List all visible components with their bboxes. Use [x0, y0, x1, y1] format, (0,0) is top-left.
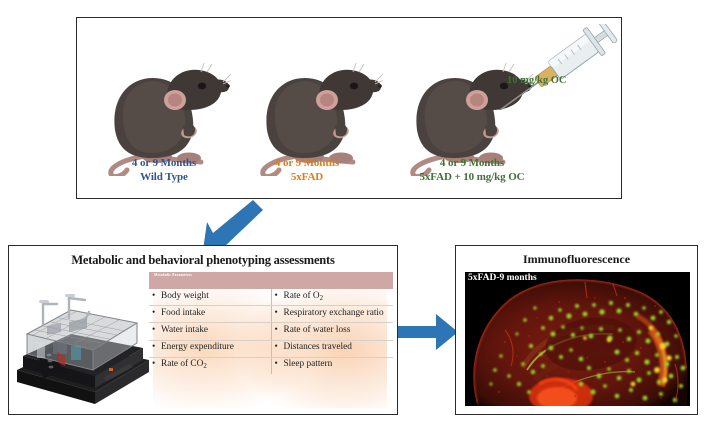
table-cell: •Water intake [149, 323, 271, 340]
brain-section-immunofluorescence-image: 5xFAD-9 months [465, 272, 690, 406]
group-label-5xfad-oc: 4 or 9 Months 5xFAD + 10 mg/kg OC [367, 157, 577, 184]
image-caption: 5xFAD-9 months [468, 273, 537, 283]
table-cell: •Rate of CO2 [149, 357, 271, 374]
group-label-line1: 4 or 9 Months [367, 157, 577, 171]
table-cell: •Distances traveled [271, 340, 393, 357]
table-row: •Food intake •Respiratory exchange ratio [149, 306, 393, 323]
table-cell: •Rate of O2 [271, 289, 393, 306]
table-row: •Rate of CO2 •Sleep pattern [149, 357, 393, 374]
panel-title: Metabolic and behavioral phenotyping ass… [9, 253, 397, 268]
immunofluorescence-panel: Immunofluorescence 5xFAD-9 months [455, 245, 698, 415]
group-label-5xfad: 4 or 9 Months 5xFAD [237, 157, 377, 184]
table-cell: •Respiratory exchange ratio [271, 306, 393, 323]
metabolic-parameters-table: Metabolic Parameters •Body weight •Rate … [149, 272, 393, 412]
table-row: •Energy expenditure •Distances traveled [149, 340, 393, 357]
group-label-line1: 4 or 9 Months [237, 157, 377, 171]
metabolic-cage-icon [13, 282, 153, 407]
syringe-icon [475, 24, 623, 110]
table-header: Metabolic Parameters [149, 272, 393, 289]
table-row: •Water intake •Rate of water loss [149, 323, 393, 340]
table-row: •Body weight •Rate of O2 [149, 289, 393, 306]
group-label-wild-type: 4 or 9 Months Wild Type [89, 157, 239, 184]
panel-title: Immunofluorescence [456, 252, 697, 267]
table-cell: •Body weight [149, 289, 271, 306]
arrow-down-left-icon [193, 198, 265, 252]
arrow-right-icon [398, 312, 460, 352]
table-cell: •Energy expenditure [149, 340, 271, 357]
dose-label: 10 mg/kg OC [507, 75, 567, 86]
table-cell: •Rate of water loss [271, 323, 393, 340]
table-cell: •Food intake [149, 306, 271, 323]
experimental-groups-panel: 10 mg/kg OC 4 or 9 Months Wild Type 4 or… [76, 17, 622, 199]
metabolic-phenotyping-panel: Metabolic and behavioral phenotyping ass… [8, 245, 398, 415]
group-label-line2: Wild Type [89, 171, 239, 185]
group-label-line2: 5xFAD + 10 mg/kg OC [367, 171, 577, 185]
group-label-line2: 5xFAD [237, 171, 377, 185]
group-label-line1: 4 or 9 Months [89, 157, 239, 171]
table-cell: •Sleep pattern [271, 357, 393, 374]
